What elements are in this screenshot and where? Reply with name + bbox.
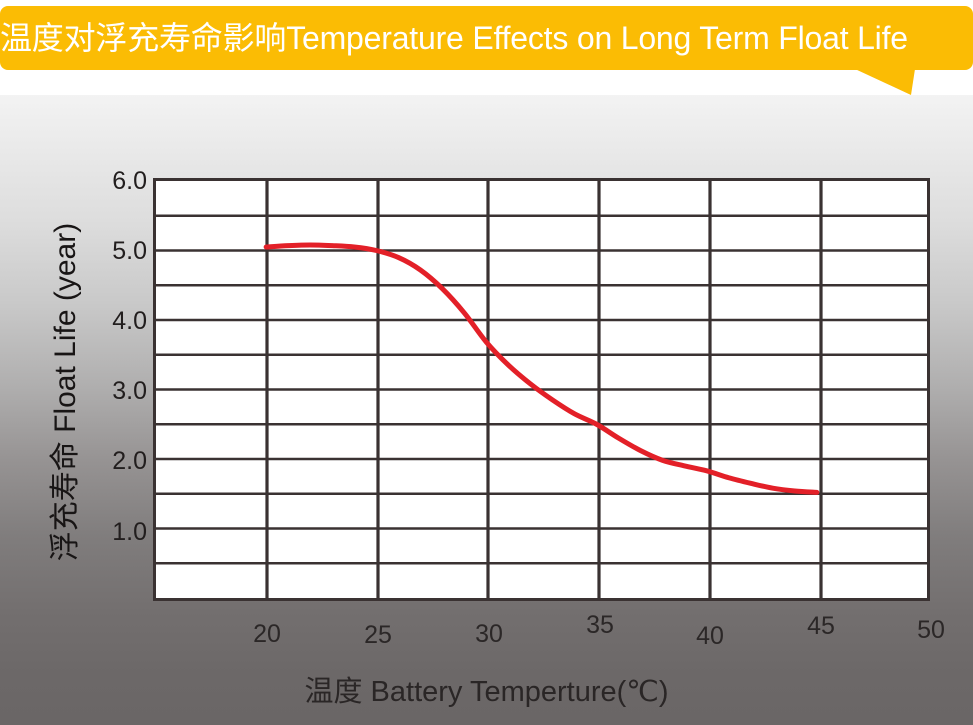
y-tick-label: 2.0 [87,447,147,476]
x-tick-label: 50 [896,616,966,645]
y-axis-tick-labels: 6.0 5.0 4.0 3.0 2.0 1.0 [85,0,147,725]
x-tick-label: 35 [565,611,635,640]
y-tick-label: 5.0 [87,237,147,266]
x-tick-label: 25 [343,621,413,650]
x-axis-title: 温度 Battery Temperture(℃) [0,668,973,710]
x-tick-label: 30 [454,620,524,649]
title-banner: 温度对浮充寿命影响Temperature Effects on Long Ter… [0,6,973,70]
x-tick-label: 40 [675,622,745,651]
x-tick-label: 20 [232,620,302,649]
data-series-float-life [266,245,817,492]
y-tick-label: 6.0 [87,167,147,196]
speech-bubble-tail-icon [855,69,915,95]
y-axis-title: 浮充寿命 Float Life (year) [40,162,84,622]
y-tick-label: 4.0 [87,307,147,336]
y-tick-label: 1.0 [87,518,147,547]
x-tick-label: 45 [786,612,856,641]
page-title: 温度对浮充寿命影响Temperature Effects on Long Ter… [0,6,973,70]
y-tick-label: 3.0 [87,377,147,406]
plot-area [153,178,930,601]
plot-svg [156,181,927,598]
